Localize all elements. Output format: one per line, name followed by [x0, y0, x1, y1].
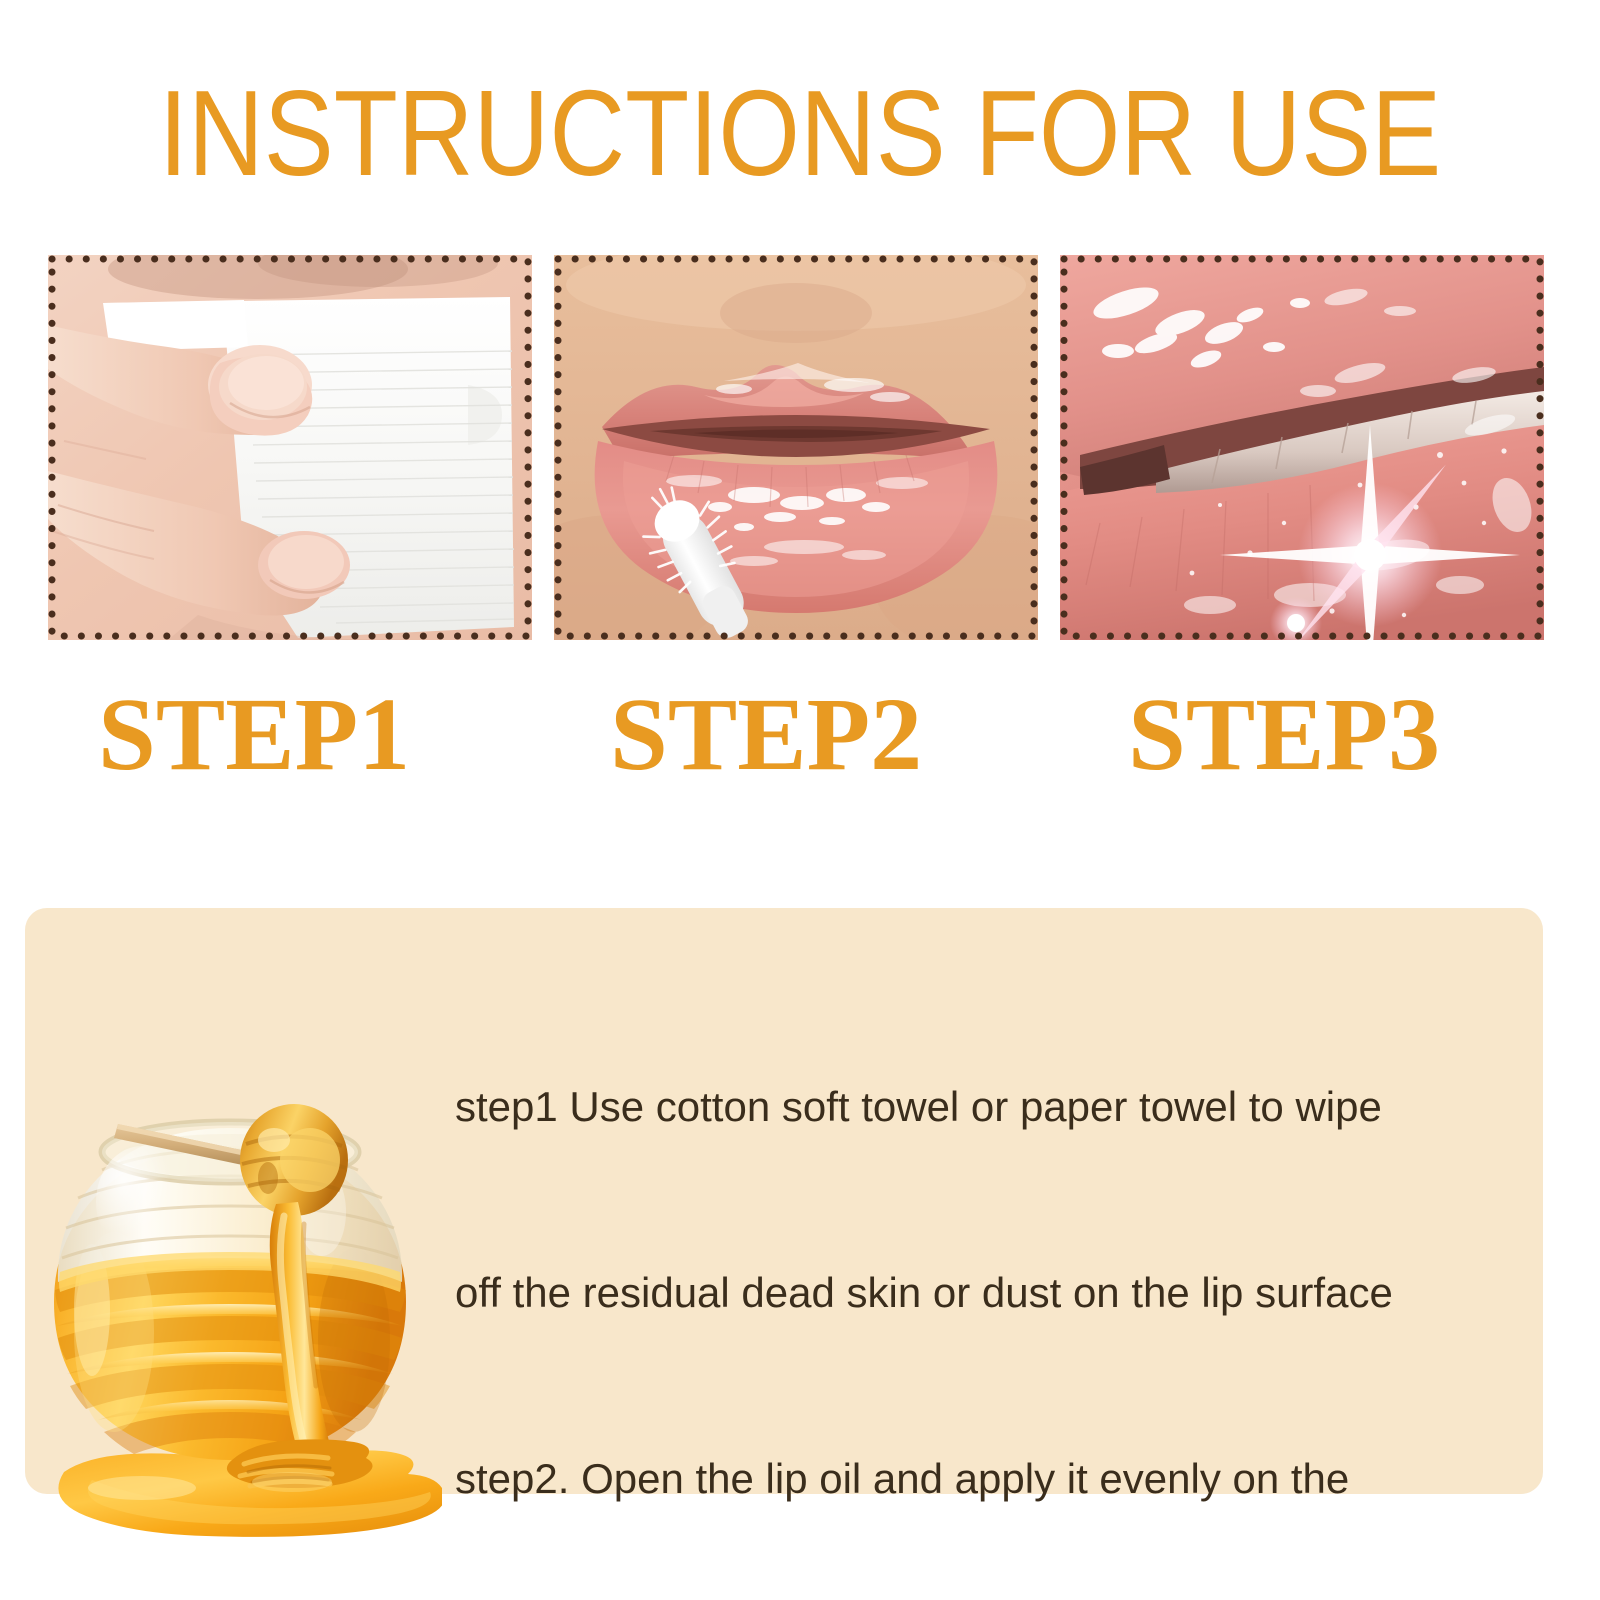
- step-photo-3: [1060, 255, 1544, 640]
- page-title: INSTRUCTIONS FOR USE: [112, 72, 1488, 194]
- step-label-row: STEP1 STEP2 STEP3: [48, 680, 1544, 790]
- instruction-line: step1 Use cotton soft towel or paper tow…: [455, 1076, 1510, 1138]
- cotton-pad-in-hand-photo: [48, 255, 532, 640]
- step-photo-row: [48, 255, 1544, 640]
- step-label-2: STEP2: [610, 680, 922, 790]
- lip-oil-applicator-photo: [554, 255, 1038, 640]
- step-label-3: STEP3: [1128, 680, 1440, 790]
- honey-jar-illustration: [22, 1052, 442, 1552]
- step-photo-1: [48, 255, 532, 640]
- step-label-1: STEP1: [98, 680, 410, 790]
- step-photo-2: [554, 255, 1038, 640]
- glossy-lips-sparkle-photo: [1060, 255, 1544, 640]
- instructions-text: step1 Use cotton soft towel or paper tow…: [455, 952, 1510, 1600]
- instructions-for-use-page: INSTRUCTIONS FOR USE: [0, 0, 1600, 1600]
- instruction-line: off the residual dead skin or dust on th…: [455, 1262, 1510, 1324]
- instruction-line: step2. Open the lip oil and apply it eve…: [455, 1448, 1510, 1510]
